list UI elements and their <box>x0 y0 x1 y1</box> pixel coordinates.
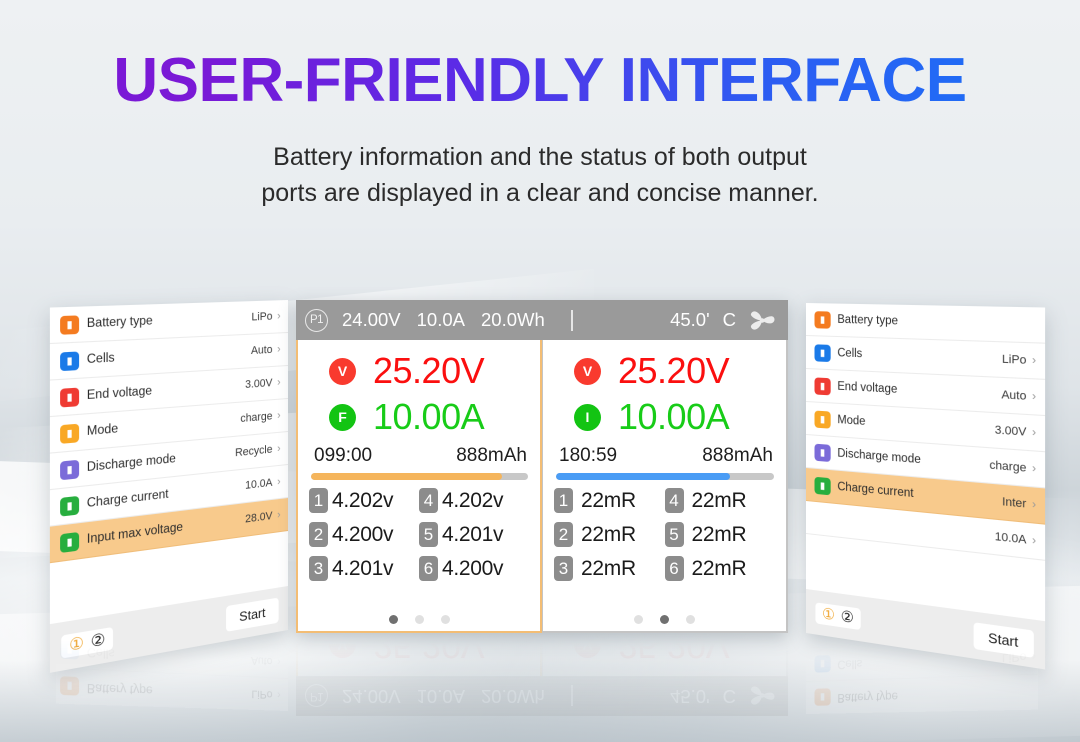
status-energy: 20.0Wh <box>481 309 545 331</box>
page-indicator-1[interactable]: ① <box>822 606 835 623</box>
cell-grid: 14.202v44.202v24.200v54.201v34.201v64.20… <box>307 488 531 581</box>
left-settings-panel: ▮Battery typeLiPo›▮CellsAuto›▮End voltag… <box>50 300 288 673</box>
pane-right[interactable]: V25.20VI10.00A180:59888mAh122mR422mR222m… <box>542 340 788 633</box>
cell-reading: 322mR <box>554 556 665 581</box>
status-temperature: 45.0' <box>670 685 710 707</box>
cell-index: 3 <box>309 556 328 581</box>
current-badge-icon: I <box>574 404 601 431</box>
cell-value: 22mR <box>581 523 636 547</box>
voltage-value: 25.20V <box>373 353 484 389</box>
chevron-right-icon: › <box>1032 390 1036 403</box>
mode-icon: ▮ <box>60 423 79 443</box>
cell-value: 4.200v <box>332 523 393 547</box>
current-row: I10.00A <box>552 394 777 440</box>
cell-index: 3 <box>554 556 573 581</box>
battery-type-icon: ▮ <box>60 315 79 334</box>
menu-row-value: 10.0A <box>245 477 272 492</box>
cell-reading: 34.201v <box>309 556 419 581</box>
menu-row-label: Battery type <box>837 314 898 328</box>
chevron-right-icon: › <box>1032 462 1036 475</box>
menu-row-label: Cells <box>837 347 862 360</box>
cells-icon: ▮ <box>60 351 79 371</box>
page-dots[interactable] <box>543 615 786 624</box>
cell-index: 1 <box>554 488 573 513</box>
current-badge-icon: F <box>329 404 356 431</box>
status-divider <box>571 686 573 707</box>
battery-type-icon: ▮ <box>814 311 830 329</box>
menu-row-label: Discharge mode <box>87 453 176 475</box>
menu-row-value: 28.0V <box>245 510 272 526</box>
menu-row-value: LiPo <box>1002 353 1026 367</box>
display-body: V25.20VF10.00A099:00888mAh14.202v44.202v… <box>296 340 788 633</box>
background-floor-shade <box>0 660 1080 742</box>
page-subtitle: Battery information and the status of bo… <box>0 140 1080 211</box>
menu-row: ▮Battery typeLiPo› <box>56 667 288 711</box>
menu-row-value: Auto <box>251 344 272 357</box>
cell-value: 4.202v <box>442 489 503 513</box>
menu-row-label: Cells <box>87 352 115 367</box>
page-dot[interactable] <box>660 615 669 624</box>
page-dot[interactable] <box>415 615 424 624</box>
progress-bar <box>556 473 774 480</box>
menu-row-label: Input max voltage <box>87 521 183 546</box>
cell-reading: 522mR <box>665 522 776 547</box>
chevron-right-icon: › <box>1032 534 1036 548</box>
time-capacity-row: 180:59888mAh <box>552 440 777 467</box>
cell-value: 4.202v <box>332 489 393 513</box>
menu-row-value: Auto <box>251 654 272 667</box>
current-value: 10.00A <box>373 399 484 435</box>
menu-row-value: 10.0A <box>995 530 1027 546</box>
elapsed-time: 180:59 <box>559 445 617 467</box>
menu-row-value: charge <box>989 459 1026 475</box>
cell-value: 22mR <box>692 523 747 547</box>
menu-row-value: Recycle <box>235 443 272 459</box>
status-temp-unit: C <box>723 685 736 707</box>
end-voltage-icon: ▮ <box>814 377 830 395</box>
cell-index: 6 <box>419 556 438 581</box>
menu-row-value: 3.00V <box>995 424 1027 439</box>
status-temperature: 45.0' <box>670 309 710 331</box>
status-temp-unit: C <box>723 309 736 331</box>
cell-reading: 422mR <box>665 488 776 513</box>
panel-footer: ① ② Start <box>50 586 288 673</box>
cell-value: 22mR <box>692 489 747 513</box>
cell-reading: 24.200v <box>309 522 419 547</box>
page-indicator-2[interactable]: ② <box>841 608 854 625</box>
menu-row-label: Mode <box>837 414 865 428</box>
cell-index: 2 <box>554 522 573 547</box>
cell-reading: 54.201v <box>419 522 529 547</box>
fan-icon <box>749 310 776 331</box>
status-current: 10.0A <box>417 309 465 331</box>
capacity-value: 888mAh <box>456 445 527 467</box>
subtitle-line-1: Battery information and the status of bo… <box>273 143 807 171</box>
display-reflection: P1 24.00V 10.0A 20.0Wh 45.0' C V25.20VF1… <box>296 636 788 716</box>
page-indicator-2[interactable]: ② <box>91 631 106 650</box>
charge-current-icon: ▮ <box>60 495 79 516</box>
subtitle-line-2: ports are displayed in a clear and conci… <box>261 179 818 207</box>
main-display: P1 24.00V 10.0A 20.0Wh 45.0' C V25.20VF1… <box>296 300 788 633</box>
voltage-row: V25.20V <box>307 348 531 394</box>
menu-row-label: Battery type <box>837 689 898 703</box>
menu-row-label: Battery type <box>87 315 153 330</box>
end-voltage-icon: ▮ <box>60 387 79 407</box>
voltage-row: V25.20V <box>552 348 777 394</box>
discharge-mode-icon: ▮ <box>60 459 79 480</box>
menu-row-label: Discharge mode <box>837 447 920 466</box>
cell-value: 4.200v <box>442 557 503 581</box>
pane-left: V25.20VF10.00A099:00888mAh14.202v44.202v… <box>296 636 542 676</box>
cell-value: 4.201v <box>332 557 393 581</box>
cell-reading: 122mR <box>554 488 665 513</box>
time-capacity-row: 099:00888mAh <box>307 440 531 467</box>
battery-type-icon: ▮ <box>814 689 830 707</box>
voltage-value: 25.20V <box>618 636 729 663</box>
cell-index: 5 <box>419 522 438 547</box>
spacer-icon <box>814 509 830 528</box>
cells-icon: ▮ <box>814 655 830 673</box>
status-current: 10.0A <box>417 685 465 707</box>
page-indicator-group[interactable]: ① ② <box>815 602 860 630</box>
menu-row-label: Charge current <box>87 488 169 510</box>
menu-row: ▮Battery type <box>806 673 1038 714</box>
menu-row-label: Mode <box>87 423 118 439</box>
pane-left[interactable]: V25.20VF10.00A099:00888mAh14.202v44.202v… <box>296 340 542 633</box>
voltage-value: 25.20V <box>618 353 729 389</box>
cell-value: 22mR <box>692 557 747 581</box>
cell-reading: 64.200v <box>419 556 529 581</box>
voltage-badge-icon: V <box>574 358 601 385</box>
discharge-mode-icon: ▮ <box>814 443 830 461</box>
page-indicator-group[interactable]: ① ② <box>61 626 113 658</box>
voltage-value: 25.20V <box>373 636 484 663</box>
current-value: 10.00A <box>618 399 729 435</box>
cell-reading: 622mR <box>665 556 776 581</box>
cell-index: 2 <box>309 522 328 547</box>
cell-index: 4 <box>419 488 438 513</box>
charge-current-icon: ▮ <box>814 476 830 495</box>
panel-footer: ① ② Start <box>806 589 1045 669</box>
cell-value: 22mR <box>581 557 636 581</box>
main-display: P1 24.00V 10.0A 20.0Wh 45.0' C V25.20VF1… <box>296 636 788 716</box>
chevron-right-icon: › <box>277 689 280 701</box>
voltage-badge-icon: V <box>329 358 356 385</box>
chevron-right-icon: › <box>277 655 280 667</box>
menu-row-value: charge <box>240 410 272 425</box>
status-voltage: 24.00V <box>342 309 401 331</box>
menu-row-label: Charge current <box>837 481 913 500</box>
status-energy: 20.0Wh <box>481 685 545 707</box>
display-body: V25.20VF10.00A099:00888mAh14.202v44.202v… <box>296 636 788 676</box>
cell-index: 5 <box>665 522 684 547</box>
cell-reading: 222mR <box>554 522 665 547</box>
pane-right: V25.20VI10.00A180:59888mAh122mR422mR222m… <box>542 636 788 676</box>
page-dots[interactable] <box>298 615 540 624</box>
fan-icon <box>749 686 776 707</box>
input-voltage-icon: ▮ <box>60 531 79 552</box>
cells-icon: ▮ <box>814 344 830 362</box>
page-dot[interactable] <box>441 615 450 624</box>
right-settings-panel: ▮Battery type▮CellsLiPo›▮End voltageAuto… <box>806 303 1045 669</box>
start-button[interactable]: Start <box>973 622 1034 658</box>
port-badge-icon: P1 <box>305 309 328 332</box>
port-badge-icon: P1 <box>305 685 328 708</box>
chevron-right-icon: › <box>277 443 280 455</box>
menu-row-value: Inter <box>1002 496 1026 511</box>
cell-index: 6 <box>665 556 684 581</box>
voltage-row: V25.20V <box>552 636 777 668</box>
chevron-right-icon: › <box>277 509 280 521</box>
menu-row-label: End voltage <box>837 381 897 396</box>
elapsed-time: 099:00 <box>314 445 372 467</box>
cell-value: 22mR <box>581 489 636 513</box>
chevron-right-icon: › <box>1032 354 1036 367</box>
current-row: F10.00A <box>307 394 531 440</box>
voltage-badge-icon: V <box>329 636 356 659</box>
menu-row-value: 3.00V <box>245 377 272 391</box>
battery-type-icon: ▮ <box>60 677 79 696</box>
page-dot[interactable] <box>389 615 398 624</box>
mode-icon: ▮ <box>814 410 830 428</box>
start-button[interactable]: Start <box>226 597 279 631</box>
cell-reading: 44.202v <box>419 488 529 513</box>
chevron-right-icon: › <box>277 310 280 322</box>
status-divider <box>571 310 573 331</box>
chevron-right-icon: › <box>277 410 280 422</box>
menu-row-value: LiPo <box>252 687 273 700</box>
chevron-right-icon: › <box>1032 426 1036 439</box>
progress-bar <box>311 473 528 480</box>
menu-row-label: Battery type <box>87 681 153 696</box>
chevron-right-icon: › <box>277 633 280 635</box>
menu-row-label: End voltage <box>87 385 152 402</box>
chevron-right-icon: › <box>277 376 280 388</box>
end-voltage-icon: ▮ <box>814 636 830 640</box>
status-bar: P1 24.00V 10.0A 20.0Wh 45.0' C <box>296 300 788 340</box>
cell-index: 1 <box>309 488 328 513</box>
page-indicator-1[interactable]: ① <box>69 634 84 653</box>
menu-row-label: Cells <box>837 657 862 670</box>
cell-grid: 122mR422mR222mR522mR322mR622mR <box>552 488 777 581</box>
chevron-right-icon: › <box>277 476 280 488</box>
page-dot[interactable] <box>634 615 643 624</box>
cell-index: 4 <box>665 488 684 513</box>
page-dot[interactable] <box>686 615 695 624</box>
capacity-value: 888mAh <box>702 445 773 467</box>
voltage-row: V25.20V <box>307 636 531 668</box>
cell-reading: 14.202v <box>309 488 419 513</box>
page-title: USER-FRIENDLY INTERFACE <box>0 50 1080 112</box>
menu-row-value: Auto <box>1001 389 1026 403</box>
chevron-right-icon: › <box>277 343 280 355</box>
status-bar: P1 24.00V 10.0A 20.0Wh 45.0' C <box>296 676 788 716</box>
menu-row-value: LiPo <box>252 311 273 324</box>
cell-value: 4.201v <box>442 523 503 547</box>
voltage-badge-icon: V <box>574 636 601 659</box>
chevron-right-icon: › <box>1032 498 1036 511</box>
status-voltage: 24.00V <box>342 685 401 707</box>
